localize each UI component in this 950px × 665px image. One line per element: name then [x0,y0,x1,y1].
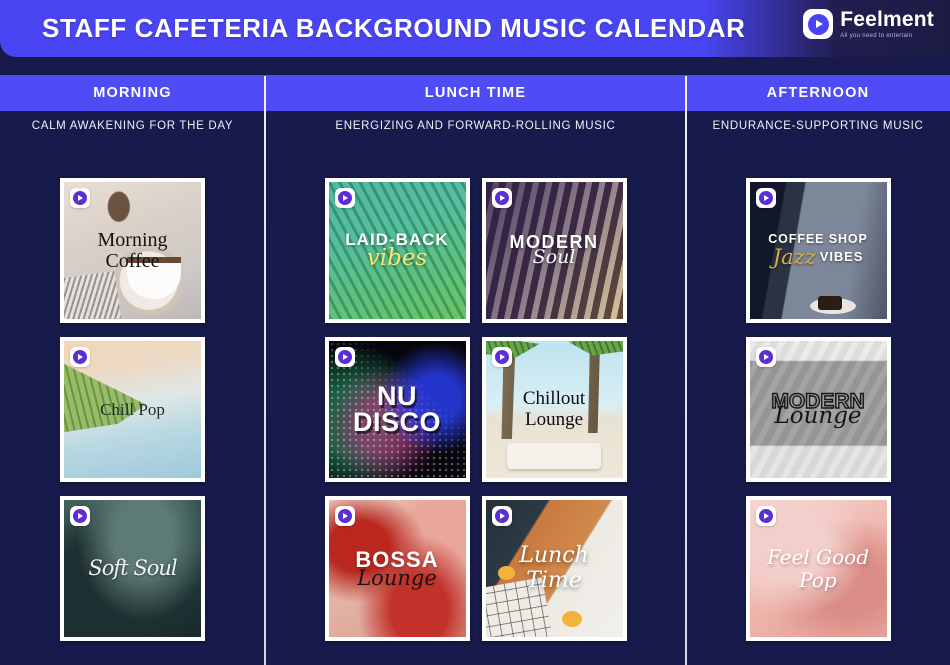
play-icon[interactable] [70,347,90,367]
playlist-title: LAID-BACK vibes [345,231,448,271]
column-morning: Morning Coffee Chill Pop [0,178,265,665]
page-header: STAFF CAFETERIA BACKGROUND MUSIC CALENDA… [0,0,950,57]
playlist-card[interactable]: LAID-BACK vibes [325,178,470,323]
playlist-card[interactable]: Morning Coffee [60,178,205,323]
playlist-card[interactable]: MODERN Soul [482,178,627,323]
column-afternoon: COFFEE SHOP Jazz VIBES [686,178,950,665]
play-icon[interactable] [335,188,355,208]
logo-play-icon [803,9,833,39]
column-header-band: MORNING LUNCH TIME AFTERNOON [0,75,950,111]
playlist-card[interactable]: Lunch Time [482,496,627,641]
playlist-title: NU DISCO [353,384,441,435]
play-icon[interactable] [492,506,512,526]
playlist-title: Chill Pop [100,401,165,419]
column-header-afternoon: AFTERNOON [686,75,950,111]
column-header-lunch-time: LUNCH TIME [265,75,686,111]
playlist-card[interactable]: NU DISCO [325,337,470,482]
play-icon[interactable] [756,506,776,526]
brand-logo[interactable]: Feelment All you need to entertain [803,9,934,39]
playlist-card[interactable]: COFFEE SHOP Jazz VIBES [746,178,891,323]
playlist-card[interactable]: Feel Good Pop [746,496,891,641]
playlist-card[interactable]: Soft Soul [60,496,205,641]
play-icon[interactable] [335,506,355,526]
play-icon[interactable] [492,188,512,208]
play-icon[interactable] [756,188,776,208]
column-subtitles: CALM AWAKENING FOR THE DAY ENERGIZING AN… [0,118,950,166]
column-subtitle-morning: CALM AWAKENING FOR THE DAY [0,118,265,166]
playlist-title: Soft Soul [88,557,176,579]
playlist-title: Feel Good Pop [767,546,869,592]
column-subtitle-afternoon: ENDURANCE-SUPPORTING MUSIC [686,118,950,166]
playlist-card[interactable]: MODERN Lounge [746,337,891,482]
play-icon[interactable] [70,506,90,526]
logo-name: Feelment [840,9,934,30]
playlist-title: BOSSA Lounge [355,548,438,588]
page-title: STAFF CAFETERIA BACKGROUND MUSIC CALENDA… [42,13,745,44]
logo-tagline: All you need to entertain [840,33,934,39]
column-lunch-time: LAID-BACK vibes MODERN Soul [265,178,686,665]
playlist-title: MODERN Lounge [771,391,864,428]
playlist-title: COFFEE SHOP Jazz VIBES [768,233,868,267]
playlist-card[interactable]: Chillout Lounge [482,337,627,482]
play-icon[interactable] [70,188,90,208]
playlist-title: MODERN Soul [510,233,599,269]
playlist-card[interactable]: BOSSA Lounge [325,496,470,641]
playlist-title: Lunch Time [519,544,588,592]
playlist-title: Chillout Lounge [523,389,585,431]
playlist-card[interactable]: Chill Pop [60,337,205,482]
playlist-title: Morning Coffee [98,230,168,272]
play-icon[interactable] [756,347,776,367]
playlist-grid: Morning Coffee Chill Pop [0,178,950,665]
column-header-morning: MORNING [0,75,265,111]
play-icon[interactable] [492,347,512,367]
column-subtitle-lunch-time: ENERGIZING AND FORWARD-ROLLING MUSIC [265,118,686,166]
play-icon[interactable] [335,347,355,367]
